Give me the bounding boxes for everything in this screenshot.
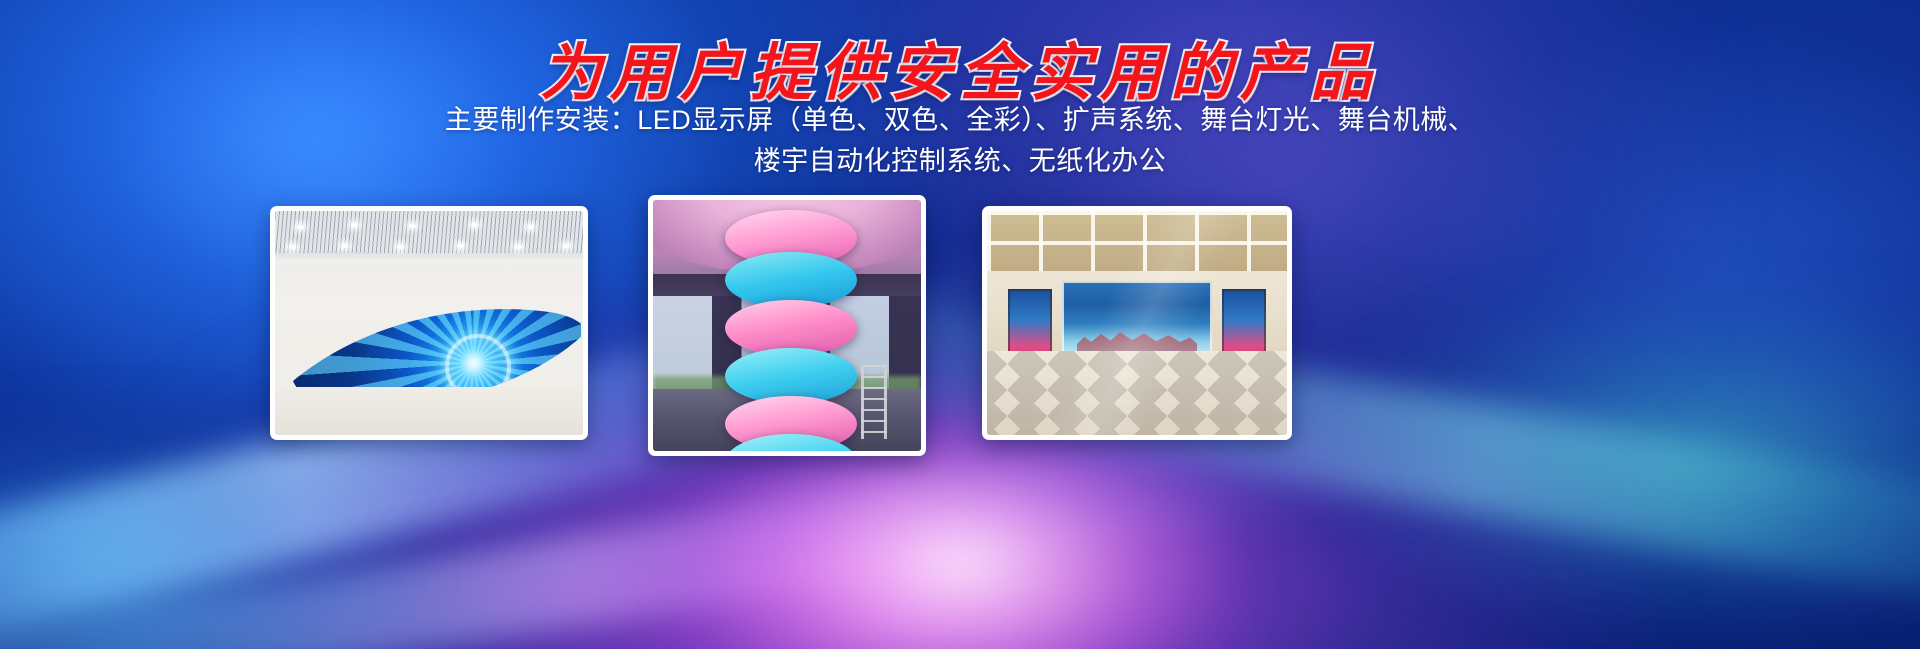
ceiling-spotlight — [341, 244, 348, 248]
ceiling-spotlight — [527, 225, 534, 229]
banquet-hall-led-stage-photo — [987, 211, 1287, 435]
promo-banner: 为用户提供安全实用的产品 主要制作安装：LED显示屏（单色、双色、全彩）、扩声系… — [0, 0, 1920, 649]
ceiling-spotlight — [563, 244, 570, 248]
ceiling-spotlight — [397, 245, 404, 249]
project-photo-gallery — [0, 0, 1920, 649]
gallery-photo-card-3[interactable] — [982, 206, 1292, 440]
spiral-ribbon-screen — [725, 208, 857, 451]
photo-glare-overlay — [987, 211, 1287, 435]
ceiling-spotlight — [297, 225, 304, 229]
ceiling-slats — [275, 211, 583, 253]
eye-shaped-led-display-photo — [275, 211, 583, 435]
ceiling-spotlight — [471, 223, 478, 227]
ceiling-spotlight — [351, 223, 358, 227]
ceiling-edge — [275, 253, 583, 263]
hall-floor — [275, 387, 583, 435]
ceiling-spotlight — [457, 244, 464, 248]
banner-content: 为用户提供安全实用的产品 主要制作安装：LED显示屏（单色、双色、全彩）、扩声系… — [0, 0, 1920, 649]
gallery-photo-card-1[interactable] — [270, 206, 588, 440]
spiral-ribbon-led-display-photo — [653, 200, 921, 451]
ceiling-spotlight — [409, 224, 416, 228]
ceiling-spotlight — [515, 245, 522, 249]
gallery-photo-card-2[interactable] — [648, 195, 926, 456]
ceiling-spotlight — [289, 245, 296, 249]
installation-ladder — [861, 365, 887, 439]
